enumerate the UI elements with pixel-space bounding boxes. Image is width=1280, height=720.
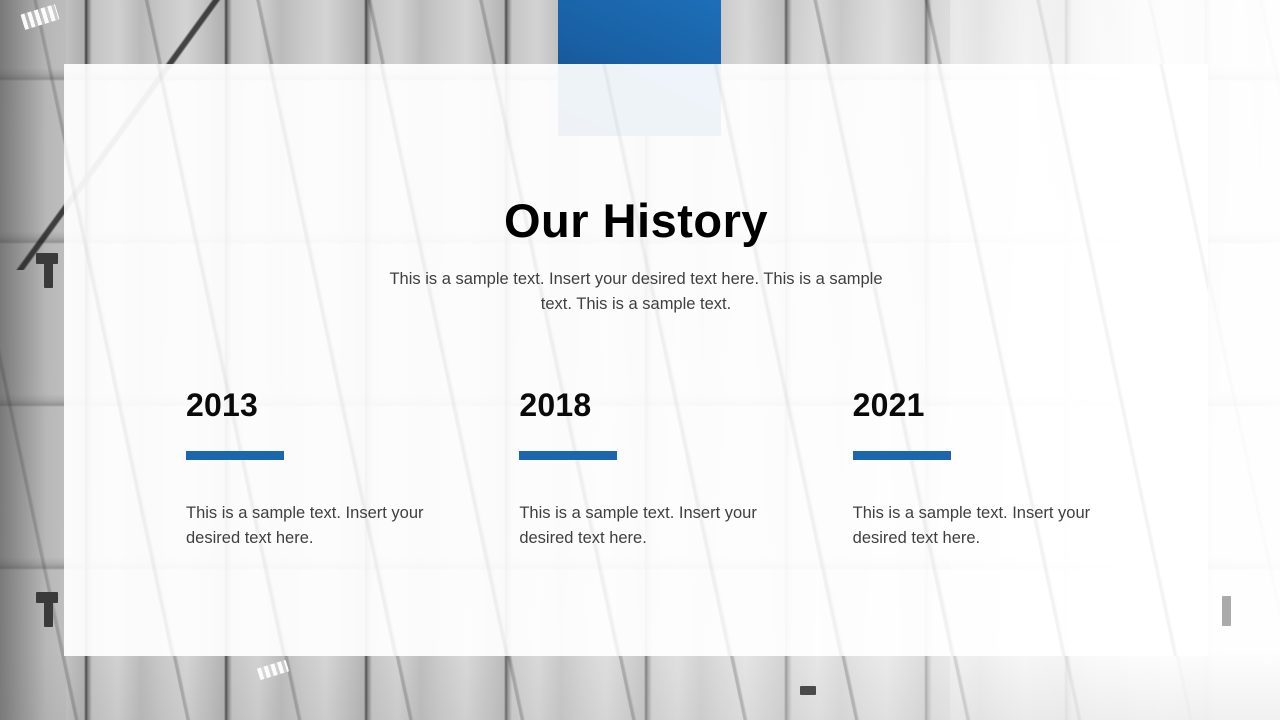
timeline-year: 2021 — [853, 389, 1186, 421]
timeline-accent-bar — [186, 451, 284, 460]
timeline-description: This is a sample text. Insert your desir… — [519, 501, 757, 551]
page-title: Our History — [64, 197, 1208, 244]
slide-subtitle: This is a sample text. Insert your desir… — [376, 267, 896, 317]
timeline-item-2018: 2018 This is a sample text. Insert your … — [519, 389, 852, 551]
glass-fitting-right-icon — [1222, 596, 1231, 626]
timeline-item-2021: 2021 This is a sample text. Insert your … — [853, 389, 1186, 551]
background-bottom-strip — [0, 650, 1280, 720]
presentation-slide: Our History This is a sample text. Inser… — [0, 0, 1280, 720]
timeline-item-2013: 2013 This is a sample text. Insert your … — [186, 389, 519, 551]
timeline-year: 2013 — [186, 389, 519, 421]
timeline-accent-bar — [519, 451, 617, 460]
timeline-description: This is a sample text. Insert your desir… — [186, 501, 424, 551]
timeline-year: 2018 — [519, 389, 852, 421]
timeline-description: This is a sample text. Insert your desir… — [853, 501, 1091, 551]
glass-fitting-icon — [800, 686, 816, 695]
timeline-columns: 2013 This is a sample text. Insert your … — [186, 389, 1186, 551]
content-card: Our History This is a sample text. Inser… — [64, 64, 1208, 656]
timeline-accent-bar — [853, 451, 951, 460]
door-hinge-lower-icon — [44, 601, 53, 627]
door-hinge-icon — [44, 262, 53, 288]
